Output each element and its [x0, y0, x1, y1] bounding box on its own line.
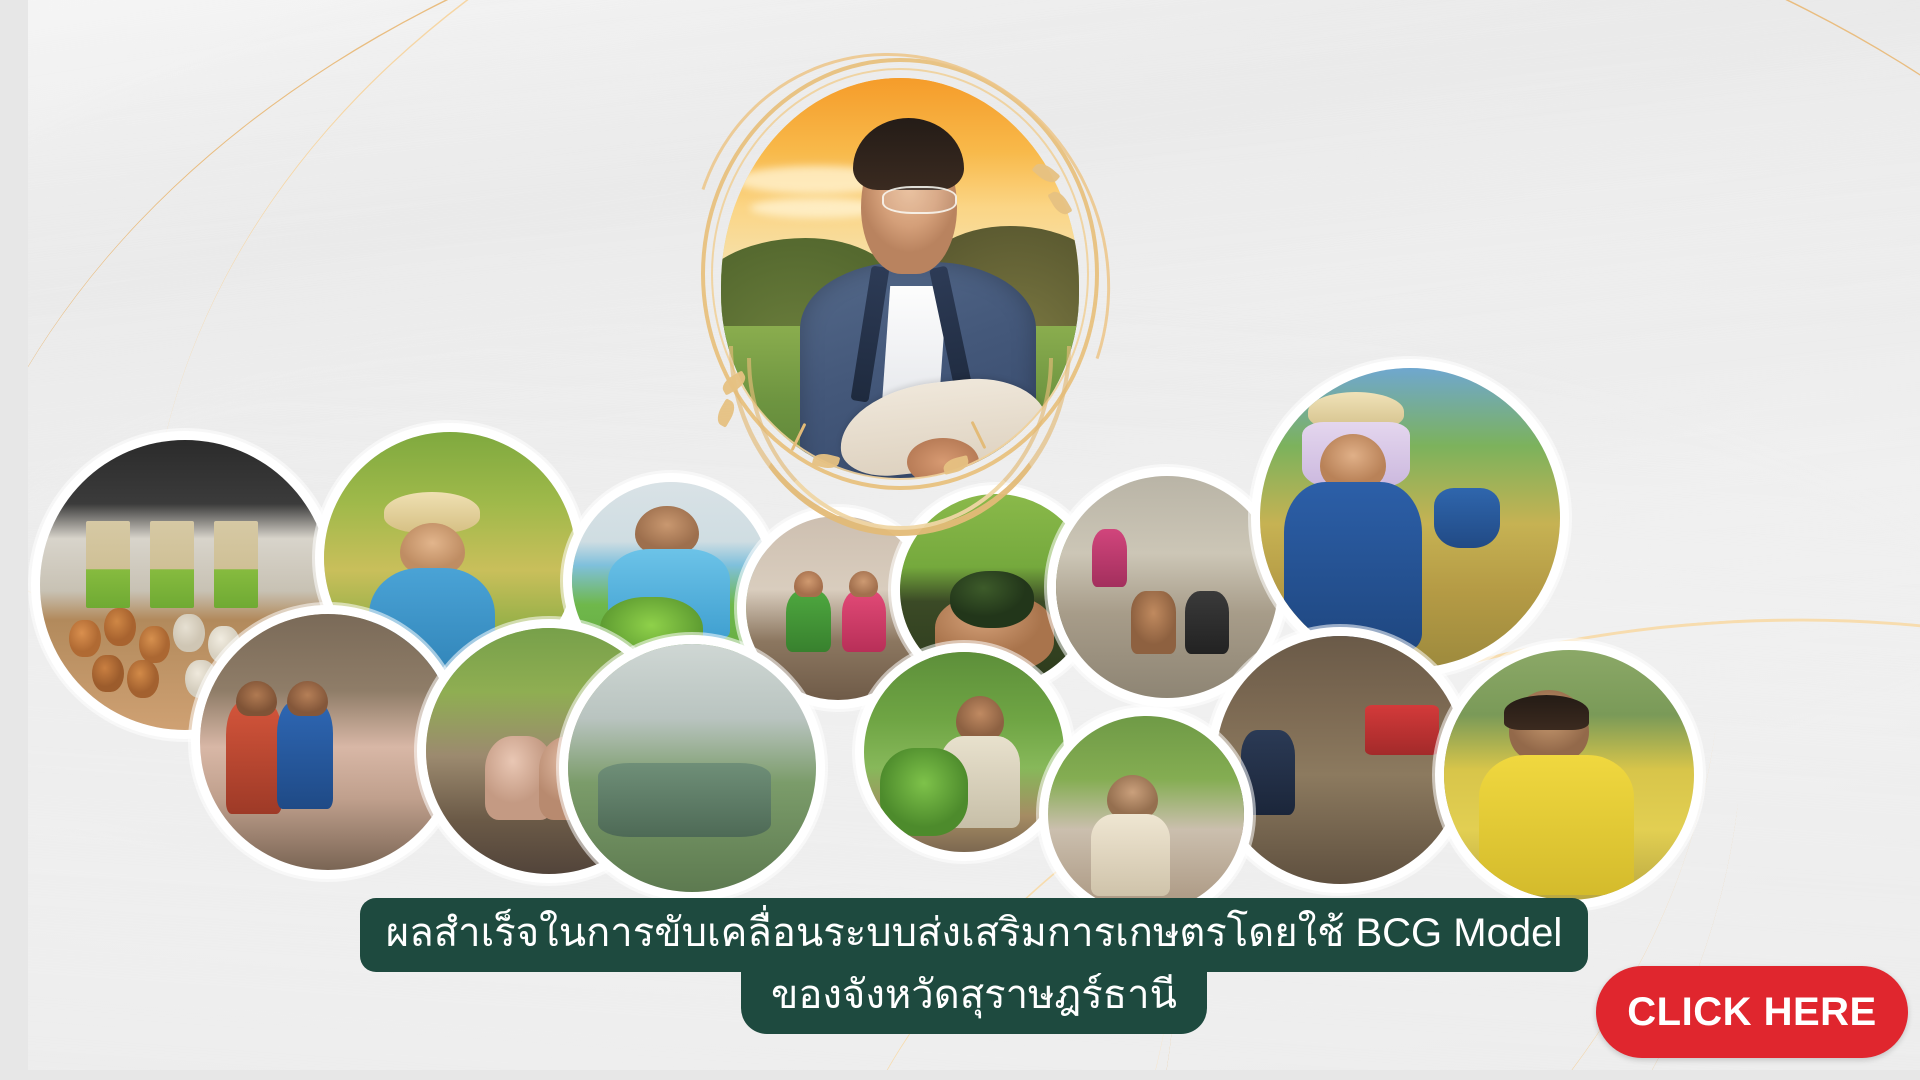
- photo-children-with-piglets: [200, 614, 456, 870]
- photo-water-pond-scene: [568, 644, 816, 892]
- royal-portrait: [685, 46, 1115, 516]
- page-root: ผลสำเร็จในการขับเคลื่อนระบบส่งเสริมการเก…: [0, 0, 1920, 1080]
- photo-scene: [864, 652, 1064, 852]
- headline-line-1: ผลสำเร็จในการขับเคลื่อนระบบส่งเสริมการเก…: [360, 898, 1588, 972]
- photo-girl-in-garden: [1048, 716, 1244, 912]
- photo-woman-farmer-transplanting-rice: [1260, 368, 1560, 668]
- gold-leaf-icon: [713, 398, 738, 428]
- page-left-margin: [0, 0, 28, 1080]
- photo-girl-with-vegetables: [864, 652, 1064, 852]
- photo-scene: [568, 644, 816, 892]
- photo-scene: [1260, 368, 1560, 668]
- photo-scene: [1444, 650, 1694, 900]
- photo-scene: [1048, 716, 1244, 912]
- photo-scene: [1216, 636, 1464, 884]
- photo-boy-in-yellow-shirt: [1444, 650, 1694, 900]
- photo-scene: [200, 614, 456, 870]
- photo-children-planting-soil: [1216, 636, 1464, 884]
- click-here-button[interactable]: CLICK HERE: [1596, 966, 1908, 1058]
- page-bottom-margin: [0, 1070, 1920, 1080]
- gold-ornament-frame: [685, 46, 1115, 516]
- poster-canvas: ผลสำเร็จในการขับเคลื่อนระบบส่งเสริมการเก…: [28, 0, 1920, 1070]
- headline-line-2: ของจังหวัดสุราษฎร์ธานี: [741, 962, 1207, 1034]
- headline-row-1: ผลสำเร็จในการขับเคลื่อนระบบส่งเสริมการเก…: [28, 898, 1920, 972]
